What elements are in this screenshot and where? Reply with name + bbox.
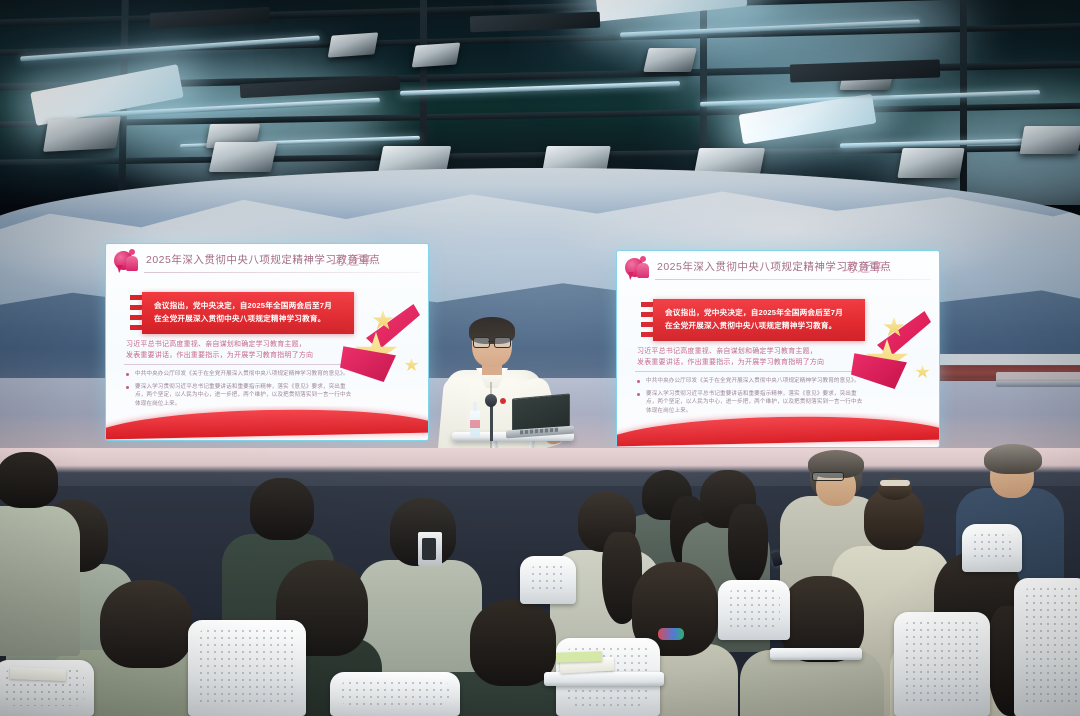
- presentation-slide-left: 2025年深入贯彻中央八项规定精神学习教育重点 习近平 会议指出，党中央决定，自…: [105, 243, 429, 441]
- writing-tablet: [770, 648, 862, 660]
- slide-subtitle: 习近平总书记高度重视、亲自谋划和确定学习教育主题， 发表重要讲话，作出重要指示，…: [126, 339, 348, 361]
- slide-red-banner: 会议指出，党中央决定，自2025年全国两会后至7月 在全党开展深入贯彻中央八项规…: [653, 299, 865, 341]
- banner-line-2: 在全党开展深入贯彻中央八项规定精神学习教育。: [154, 312, 348, 325]
- photo-scene: 2025年深入贯彻中央八项规定精神学习教育重点 习近平 会议指出，党中央决定，自…: [0, 0, 1080, 716]
- glasses-icon: [473, 337, 511, 346]
- slide-header: 2025年深入贯彻中央八项规定精神学习教育重点 习近平: [617, 251, 939, 285]
- barn-door-fixture: [1020, 126, 1080, 154]
- handout-paper: [556, 651, 602, 663]
- banner-line-1: 会议指出，党中央决定，自2025年全国两会后至7月: [665, 306, 859, 319]
- red-ribbon-gold-stars-icon: [847, 303, 935, 403]
- red-ribbon-gold-stars-icon: [336, 296, 424, 396]
- led-tube-light: [400, 81, 680, 96]
- banner-line-2: 在全党开展深入贯彻中央八项规定精神学习教育。: [665, 319, 859, 332]
- slide-header: 2025年深入贯彻中央八项规定精神学习教育重点 习近平: [106, 244, 428, 278]
- party-education-logo-icon: [625, 255, 651, 281]
- microphone: [485, 394, 497, 440]
- writing-tablet: [544, 672, 664, 686]
- audience-chair: [520, 556, 576, 604]
- list-item: 中共中央办公厅印发《关于在全党开展深入贯彻中央八项规定精神学习教育的意见》。: [637, 377, 865, 386]
- glasses-icon: [812, 472, 844, 481]
- signature-script: 习近平: [843, 257, 929, 275]
- audience-chair: [894, 612, 990, 716]
- slide-footer-wave: [617, 413, 939, 447]
- barn-door-fixture: [328, 32, 379, 57]
- presentation-slide-right: 2025年深入贯彻中央八项规定精神学习教育重点 习近平 会议指出，党中央决定，自…: [616, 250, 940, 448]
- audience-chair: [718, 580, 790, 640]
- list-item: 要深入学习贯彻习近平总书记重要讲话和重要指示精神，落实《意见》要求，突出重点，两…: [637, 390, 865, 416]
- list-item: 要深入学习贯彻习近平总书记重要讲话和重要指示精神，落实《意见》要求，突出重点，两…: [126, 383, 354, 409]
- audience-chair: [188, 620, 306, 716]
- slide-red-banner: 会议指出，党中央决定，自2025年全国两会后至7月 在全党开展深入贯彻中央八项规…: [142, 292, 354, 334]
- audience-chair: [962, 524, 1022, 572]
- party-education-logo-icon: [114, 248, 140, 274]
- audience-chair: [330, 672, 460, 716]
- barn-door-fixture: [643, 48, 697, 72]
- laptop: [506, 396, 570, 438]
- signature-script: 习近平: [332, 250, 418, 268]
- list-item: 中共中央办公厅印发《关于在全党开展深入贯彻中央八项规定精神学习教育的意见》。: [126, 370, 354, 379]
- audience-chair: [1014, 578, 1080, 716]
- slide-footer-wave: [106, 406, 428, 440]
- banner-line-1: 会议指出，党中央决定，自2025年全国两会后至7月: [154, 299, 348, 312]
- hair-tie-icon: [658, 628, 684, 640]
- barn-door-fixture: [412, 42, 461, 67]
- slide-subtitle: 习近平总书记高度重视、亲自谋划和确定学习教育主题， 发表重要讲话，作出重要指示，…: [637, 346, 859, 368]
- handout-paper: [10, 667, 66, 681]
- barn-door-fixture: [43, 116, 121, 152]
- water-bottle: [470, 402, 480, 438]
